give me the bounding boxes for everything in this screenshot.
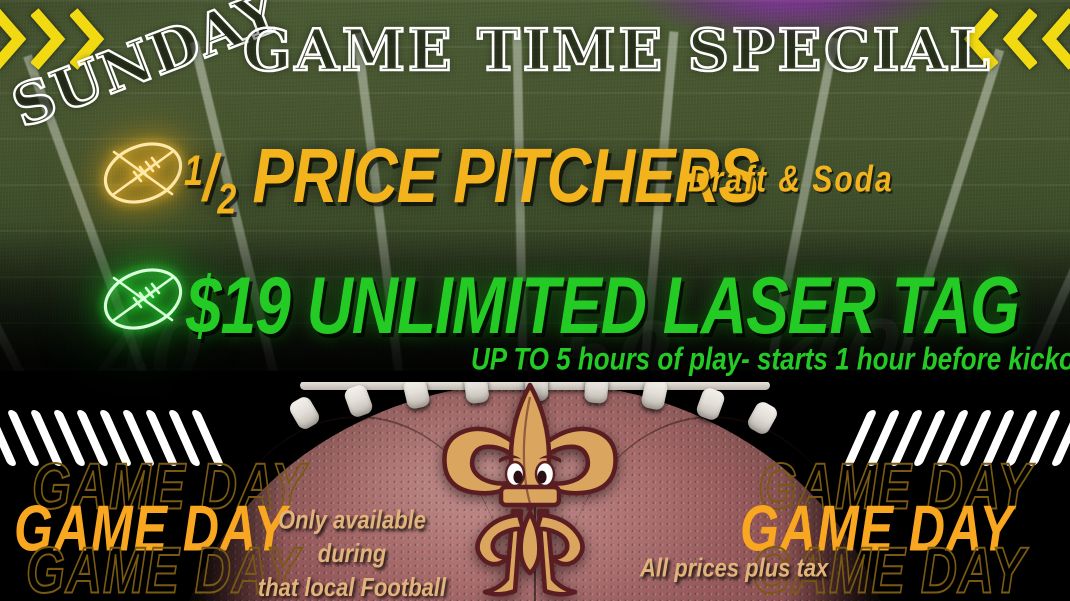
page-title: GAME TIME SPECIAL [243, 17, 993, 84]
availability-disclaimer: Only available during that local Footbal… [247, 503, 457, 601]
football-icon [100, 266, 186, 332]
offer-lasertag-subtext: UP TO 5 hours of play- starts 1 hour bef… [471, 343, 1070, 374]
fraction-denominator: 2 [217, 176, 236, 223]
lace [695, 386, 727, 422]
fraction-one-half: 1/2 [184, 146, 236, 210]
offer-pitchers-text: PRICE PITCHERS [236, 134, 758, 220]
lace [402, 382, 431, 410]
fraction-numerator: 1 [184, 148, 203, 195]
offer-pitchers-headline: 1/2 PRICE PITCHERS [184, 139, 759, 216]
chevron-left-icon [1001, 8, 1037, 70]
lace [745, 399, 780, 436]
chevron-left-icon [1040, 8, 1070, 70]
fleur-de-lis-mascot-icon [437, 383, 623, 601]
football-icon [100, 140, 186, 206]
fraction-slash: / [203, 143, 217, 215]
availability-line-1: Only available during [247, 503, 457, 570]
lace [287, 394, 322, 431]
lace [640, 382, 669, 411]
offer-lasertag-headline: $19 UNLIMITED LASER TAG [186, 265, 1019, 346]
offer-pitchers-note: Draft & Soda [688, 162, 894, 199]
tax-disclaimer: All prices plus tax [640, 551, 828, 585]
availability-line-2: that local Football [247, 570, 457, 601]
chevron-right-icon [0, 8, 28, 70]
promo-poster: 40 50 40 SUNDAY GAME TIME SPECIAL 1 [0, 0, 1070, 601]
